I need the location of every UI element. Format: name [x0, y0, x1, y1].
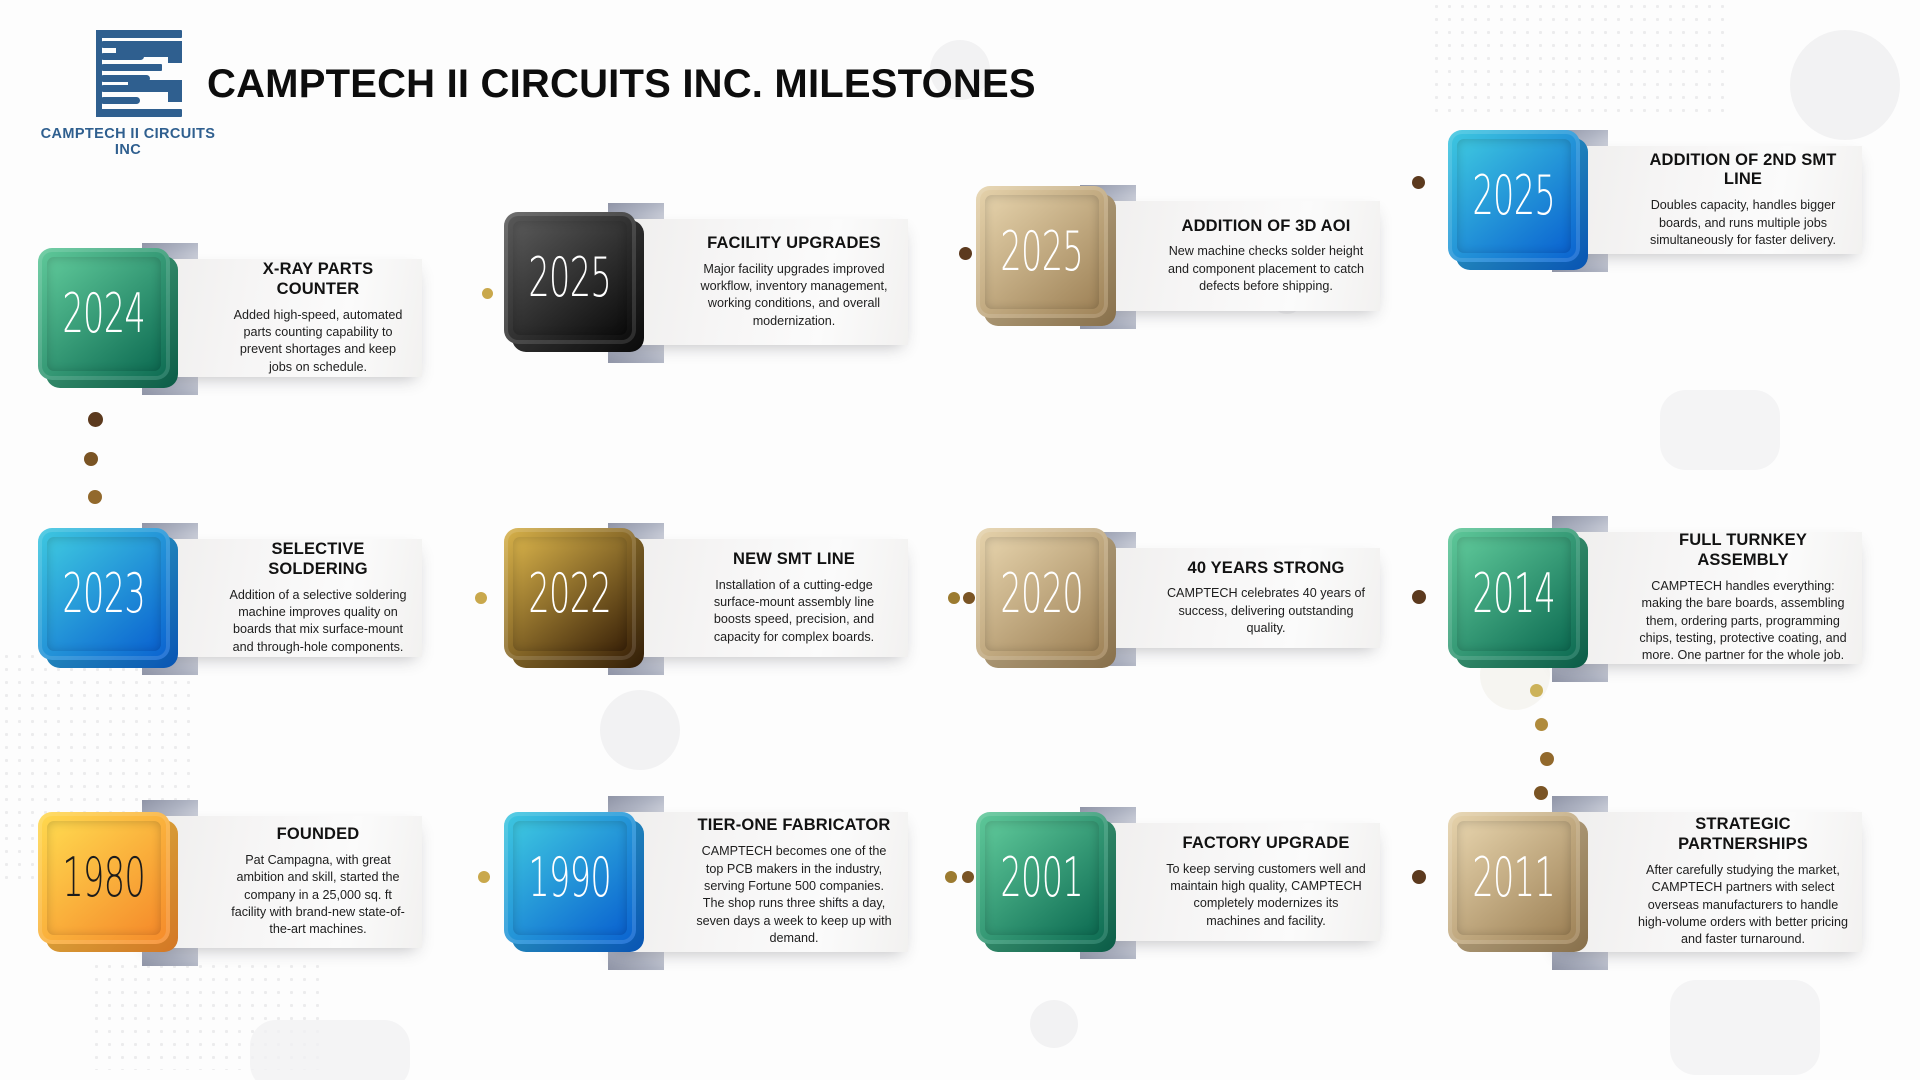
- milestone-card[interactable]: FOUNDED Pat Campagna, with great ambitio…: [38, 812, 422, 962]
- milestone-year-tile[interactable]: 2011: [1448, 812, 1588, 952]
- milestone-title: FACTORY UPGRADE: [1183, 834, 1350, 854]
- milestone-panel: X-RAY PARTS COUNTER Added high-speed, au…: [142, 259, 422, 377]
- milestone-card[interactable]: FULL TURNKEY ASSEMBLY CAMPTECH handles e…: [1448, 528, 1862, 678]
- milestone-panel: ADDITION OF 3D AOI New machine checks so…: [1080, 201, 1380, 311]
- milestone-year-tile[interactable]: 2020: [976, 528, 1116, 668]
- milestone-year-tile[interactable]: 2024: [38, 248, 178, 388]
- link-dot: [478, 871, 490, 883]
- milestone-card[interactable]: SELECTIVE SOLDERING Addition of a select…: [38, 528, 422, 678]
- milestone-title: FOUNDED: [277, 825, 360, 845]
- link-dot: [475, 592, 487, 604]
- milestone-year-tile[interactable]: 1990: [504, 812, 644, 952]
- milestone-panel: FACTORY UPGRADE To keep serving customer…: [1080, 823, 1380, 941]
- milestone-year-tile[interactable]: 2014: [1448, 528, 1588, 668]
- milestone-year-tile[interactable]: 1980: [38, 812, 178, 952]
- link-dot: [948, 592, 960, 604]
- milestone-title: STRATEGIC PARTNERSHIPS: [1638, 815, 1848, 855]
- milestone-year: 2025: [529, 251, 612, 305]
- tile-face: 2025: [1448, 130, 1580, 262]
- link-dot: [945, 871, 957, 883]
- milestone-panel: STRATEGIC PARTNERSHIPS After carefully s…: [1552, 812, 1862, 952]
- dot-grid-bottom: [90, 960, 320, 1070]
- milestone-year-tile[interactable]: 2025: [976, 186, 1116, 326]
- dot-grid-top-right: [1430, 0, 1730, 120]
- panel-fold-bottom: [608, 952, 664, 970]
- page-title: CAMPTECH II CIRCUITS INC. MILESTONES: [207, 62, 1036, 107]
- milestone-description: Installation of a cutting-edge surface-m…: [694, 577, 894, 647]
- milestone-card[interactable]: NEW SMT LINE Installation of a cutting-e…: [504, 528, 908, 678]
- milestone-title: TIER-ONE FABRICATOR: [698, 816, 891, 836]
- link-dot: [959, 247, 972, 260]
- milestone-panel: SELECTIVE SOLDERING Addition of a select…: [142, 539, 422, 657]
- link-dot: [1412, 590, 1426, 604]
- milestone-year: 2022: [529, 567, 612, 621]
- milestone-title: X-RAY PARTS COUNTER: [228, 260, 408, 300]
- milestone-year: 2023: [63, 567, 146, 621]
- blob-1: [1790, 30, 1900, 140]
- link-dot: [963, 592, 975, 604]
- milestone-year: 2011: [1473, 851, 1556, 905]
- milestone-title: 40 YEARS STRONG: [1188, 559, 1345, 579]
- milestone-description: After carefully studying the market, CAM…: [1638, 862, 1848, 949]
- milestone-card[interactable]: X-RAY PARTS COUNTER Added high-speed, au…: [38, 248, 422, 398]
- milestone-year: 2001: [1001, 851, 1084, 905]
- milestone-year: 2025: [1001, 225, 1084, 279]
- logo-wordmark: CAMPTECH II CIRCUITS INC: [28, 126, 228, 158]
- milestone-panel: TIER-ONE FABRICATOR CAMPTECH becomes one…: [608, 812, 908, 952]
- chain-dot: [84, 452, 98, 466]
- link-dot: [1412, 176, 1425, 189]
- tile-face: 2025: [504, 212, 636, 344]
- milestone-card[interactable]: ADDITION OF 2ND SMT LINE Doubles capacit…: [1448, 130, 1862, 280]
- milestone-year-tile[interactable]: 2001: [976, 812, 1116, 952]
- milestone-card[interactable]: TIER-ONE FABRICATOR CAMPTECH becomes one…: [504, 812, 908, 962]
- company-logo: CAMPTECH II CIRCUITS INC: [28, 28, 228, 153]
- milestone-year: 1990: [529, 851, 612, 905]
- milestone-year: 2024: [63, 287, 146, 341]
- tile-face: 2011: [1448, 812, 1580, 944]
- milestone-year-tile[interactable]: 2025: [504, 212, 644, 352]
- milestone-description: CAMPTECH celebrates 40 years of success,…: [1166, 585, 1366, 637]
- tile-face: 2025: [976, 186, 1108, 318]
- milestone-panel: NEW SMT LINE Installation of a cutting-e…: [608, 539, 908, 657]
- rrect-3: [250, 1020, 410, 1080]
- circuit-c-logo-icon: [86, 28, 196, 120]
- rrect-1: [1660, 390, 1780, 470]
- milestone-card[interactable]: FACTORY UPGRADE To keep serving customer…: [976, 812, 1380, 962]
- chain-dot: [1534, 786, 1548, 800]
- milestone-description: CAMPTECH becomes one of the top PCB make…: [694, 843, 894, 947]
- milestone-year: 2025: [1473, 169, 1556, 223]
- tile-face: 2023: [38, 528, 170, 660]
- tile-face: 2001: [976, 812, 1108, 944]
- milestone-card[interactable]: 40 YEARS STRONG CAMPTECH celebrates 40 y…: [976, 528, 1380, 678]
- link-dot: [962, 871, 974, 883]
- milestone-year-tile[interactable]: 2023: [38, 528, 178, 668]
- milestone-title: ADDITION OF 2ND SMT LINE: [1638, 151, 1848, 191]
- milestone-year-tile[interactable]: 2022: [504, 528, 644, 668]
- chain-dot: [1540, 752, 1554, 766]
- milestone-description: To keep serving customers well and maint…: [1166, 861, 1366, 931]
- milestone-card[interactable]: STRATEGIC PARTNERSHIPS After carefully s…: [1448, 812, 1862, 962]
- milestone-title: NEW SMT LINE: [733, 550, 855, 570]
- blob-4: [600, 690, 680, 770]
- tile-face: 1980: [38, 812, 170, 944]
- milestone-year-tile[interactable]: 2025: [1448, 130, 1588, 270]
- milestone-panel: FOUNDED Pat Campagna, with great ambitio…: [142, 816, 422, 948]
- milestone-year: 2020: [1001, 567, 1084, 621]
- link-dot: [482, 288, 493, 299]
- milestone-description: Doubles capacity, handles bigger boards,…: [1638, 197, 1848, 249]
- milestone-year: 2014: [1473, 567, 1556, 621]
- tile-face: 1990: [504, 812, 636, 944]
- milestone-panel: 40 YEARS STRONG CAMPTECH celebrates 40 y…: [1080, 548, 1380, 648]
- tile-face: 2022: [504, 528, 636, 660]
- blob-5: [1030, 1000, 1078, 1048]
- milestone-card[interactable]: FACILITY UPGRADES Major facility upgrade…: [504, 212, 908, 362]
- tile-face: 2024: [38, 248, 170, 380]
- milestone-description: New machine checks solder height and com…: [1166, 243, 1366, 295]
- tile-face: 2014: [1448, 528, 1580, 660]
- rrect-2: [1670, 980, 1820, 1075]
- milestone-description: Pat Campagna, with great ambition and sk…: [228, 852, 408, 939]
- milestone-title: SELECTIVE SOLDERING: [228, 540, 408, 580]
- milestone-year: 1980: [63, 851, 146, 905]
- milestone-panel: FACILITY UPGRADES Major facility upgrade…: [608, 219, 908, 345]
- milestone-panel: ADDITION OF 2ND SMT LINE Doubles capacit…: [1552, 146, 1862, 254]
- panel-fold-bottom: [1552, 952, 1608, 970]
- infographic-canvas: CAMPTECH II CIRCUITS INC CAMPTECH II CIR…: [0, 0, 1920, 1080]
- chain-dot: [88, 412, 103, 427]
- milestone-title: ADDITION OF 3D AOI: [1182, 217, 1351, 237]
- milestone-title: FACILITY UPGRADES: [707, 234, 881, 254]
- chain-dot: [1535, 718, 1548, 731]
- milestone-card[interactable]: ADDITION OF 3D AOI New machine checks so…: [976, 186, 1380, 336]
- link-dot: [1412, 870, 1426, 884]
- milestone-title: FULL TURNKEY ASSEMBLY: [1638, 531, 1848, 571]
- milestone-description: Addition of a selective soldering machin…: [228, 587, 408, 657]
- page-header: CAMPTECH II CIRCUITS INC CAMPTECH II CIR…: [0, 0, 1100, 170]
- milestone-panel: FULL TURNKEY ASSEMBLY CAMPTECH handles e…: [1552, 532, 1862, 664]
- milestone-description: Added high-speed, automated parts counti…: [228, 307, 408, 377]
- milestone-description: Major facility upgrades improved workflo…: [694, 261, 894, 331]
- milestone-description: CAMPTECH handles everything: making the …: [1638, 578, 1848, 665]
- tile-face: 2020: [976, 528, 1108, 660]
- chain-dot: [1530, 684, 1543, 697]
- chain-dot: [88, 490, 102, 504]
